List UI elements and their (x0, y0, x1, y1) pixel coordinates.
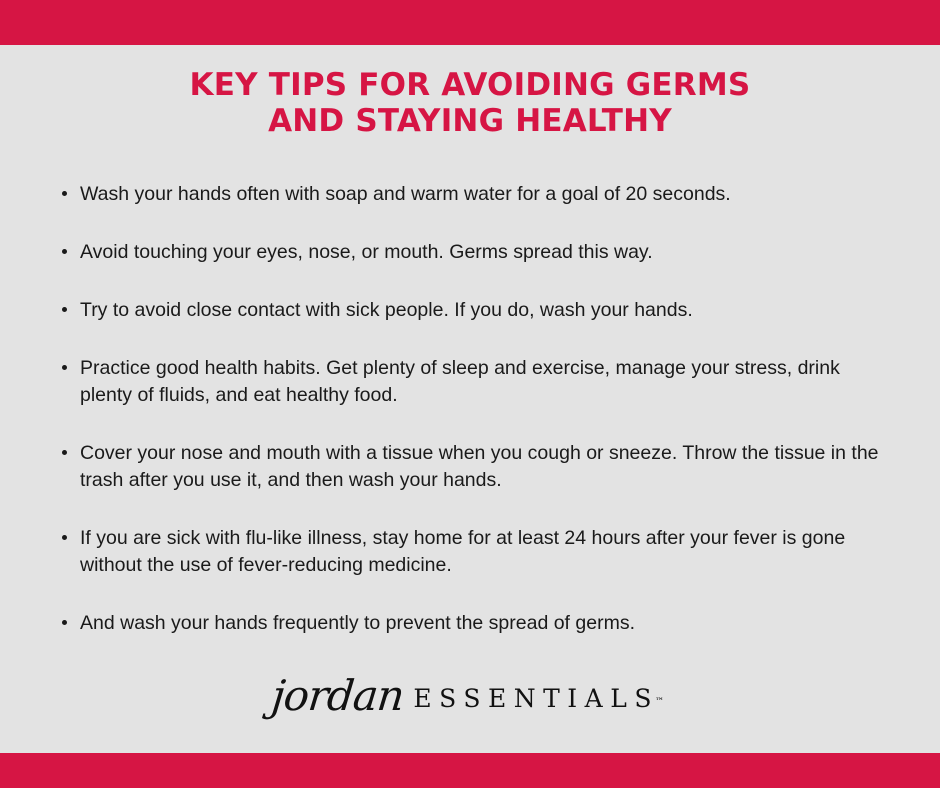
list-item: If you are sick with flu-like illness, s… (62, 525, 892, 579)
list-item-text: And wash your hands frequently to preven… (80, 610, 892, 637)
bullet-icon (62, 620, 67, 625)
poster-body: KEY TIPS FOR AVOIDING GERMS AND STAYING … (0, 45, 940, 753)
list-item-text: Try to avoid close contact with sick peo… (80, 297, 892, 324)
list-item: Cover your nose and mouth with a tissue … (62, 440, 892, 494)
list-item-text: Cover your nose and mouth with a tissue … (80, 440, 892, 494)
top-red-band (0, 0, 940, 45)
bullet-icon (62, 249, 67, 254)
brand-logo-word: ESSENTIALS (413, 685, 659, 713)
bullet-icon (62, 191, 67, 196)
trademark-icon: ™ (655, 697, 664, 707)
bullet-icon (62, 365, 67, 370)
list-item-text: Avoid touching your eyes, nose, or mouth… (80, 239, 892, 266)
brand-logo: jordan ESSENTIALS ™ (0, 671, 940, 713)
page-title-line-1: KEY TIPS FOR AVOIDING GERMS (0, 67, 940, 103)
list-item: And wash your hands frequently to preven… (62, 610, 892, 637)
tips-list: Wash your hands often with soap and warm… (62, 181, 892, 637)
list-item-text: If you are sick with flu-like illness, s… (80, 525, 892, 579)
list-item-text: Practice good health habits. Get plenty … (80, 355, 892, 409)
list-item-text: Wash your hands often with soap and warm… (80, 181, 892, 208)
bullet-icon (62, 450, 67, 455)
list-item: Try to avoid close contact with sick peo… (62, 297, 892, 324)
list-item: Practice good health habits. Get plenty … (62, 355, 892, 409)
brand-logo-script: jordan (270, 675, 406, 717)
bullet-icon (62, 535, 67, 540)
page-title: KEY TIPS FOR AVOIDING GERMS AND STAYING … (0, 45, 940, 139)
list-item: Avoid touching your eyes, nose, or mouth… (62, 239, 892, 266)
poster: KEY TIPS FOR AVOIDING GERMS AND STAYING … (0, 0, 940, 788)
page-title-line-2: AND STAYING HEALTHY (0, 103, 940, 139)
list-item: Wash your hands often with soap and warm… (62, 181, 892, 208)
bullet-icon (62, 307, 67, 312)
bottom-red-band (0, 753, 940, 788)
